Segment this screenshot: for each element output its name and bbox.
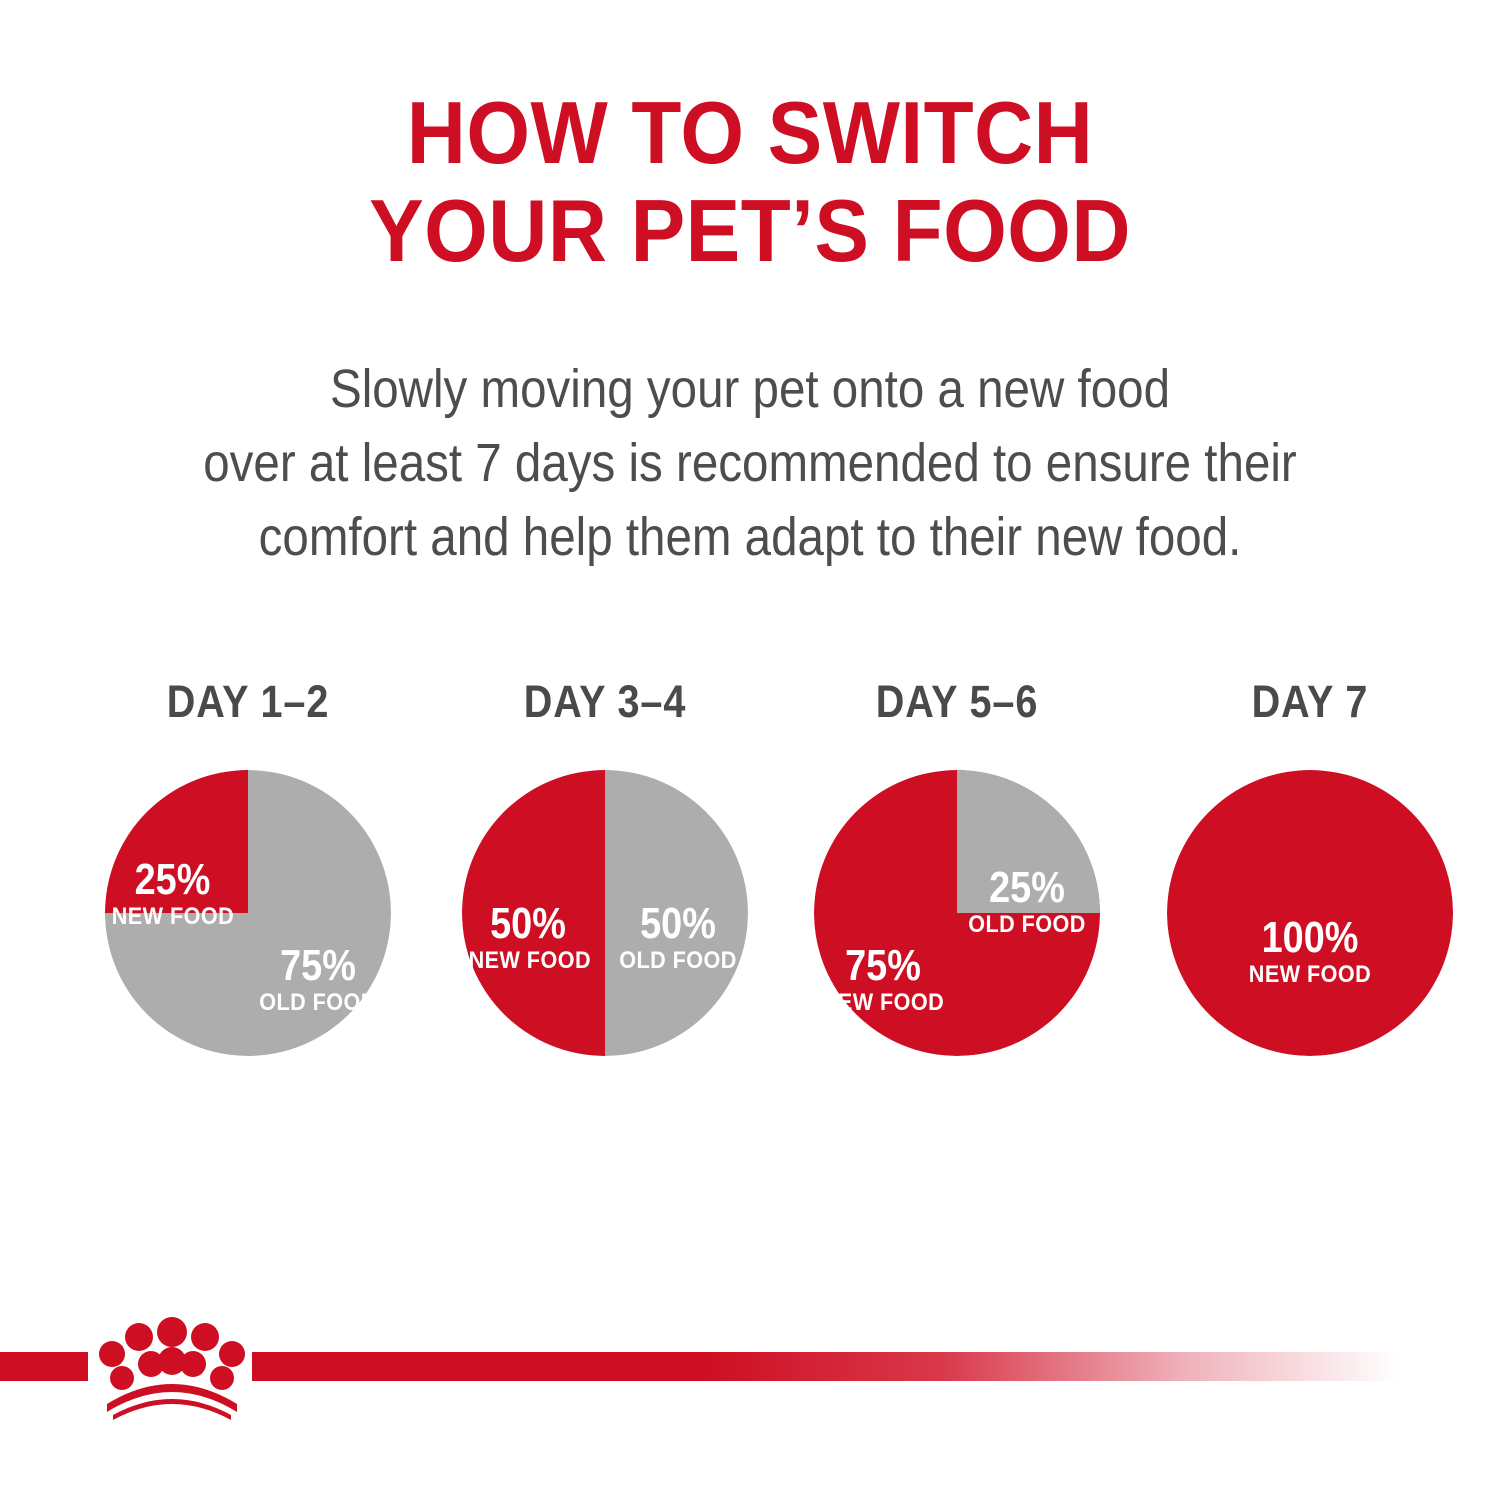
royal-canin-crown-icon: [93, 1316, 251, 1420]
pie-graphic-3: [814, 770, 1100, 1056]
page-subtitle-line-2: over at least 7 days is recommended to e…: [90, 426, 1410, 500]
day-label-1: DAY 1–2: [94, 676, 402, 728]
pie-graphic-1: [105, 770, 391, 1056]
pie-graphic-4: [1167, 770, 1453, 1056]
slice-old-food-3: [957, 770, 1100, 913]
pie-chart-day-7: DAY 7 100% NEW FOOD: [1135, 676, 1485, 1096]
footer-bar-right: [252, 1352, 1500, 1381]
footer: [0, 1352, 1500, 1386]
pie-chart-row: DAY 1–2 25% NEW FOOD 75% OLD FOOD DAY 3–…: [0, 676, 1500, 1096]
day-label-3: DAY 5–6: [803, 676, 1111, 728]
day-label-2: DAY 3–4: [451, 676, 759, 728]
page-subtitle-line-1: Slowly moving your pet onto a new food: [90, 352, 1410, 426]
page-title: HOW TO SWITCH YOUR PET’S FOOD: [53, 84, 1448, 280]
page-title-line-1: HOW TO SWITCH: [53, 84, 1448, 182]
day-label-4: DAY 7: [1156, 676, 1464, 728]
page-subtitle: Slowly moving your pet onto a new food o…: [90, 352, 1410, 574]
pie-chart-day-5-6: DAY 5–6 25% OLD FOOD 75% NEW FOOD: [782, 676, 1132, 1096]
slice-new-food-2: [462, 770, 605, 1056]
slice-new-food-1: [105, 770, 248, 913]
slice-new-food-4: [1167, 770, 1453, 1056]
pie-chart-day-1-2: DAY 1–2 25% NEW FOOD 75% OLD FOOD: [73, 676, 423, 1096]
pie-chart-day-3-4: DAY 3–4 50% NEW FOOD 50% OLD FOOD: [430, 676, 780, 1096]
page-subtitle-line-3: comfort and help them adapt to their new…: [90, 500, 1410, 574]
footer-bar-left: [0, 1352, 88, 1381]
pie-graphic-2: [462, 770, 748, 1056]
page-title-line-2: YOUR PET’S FOOD: [53, 182, 1448, 280]
